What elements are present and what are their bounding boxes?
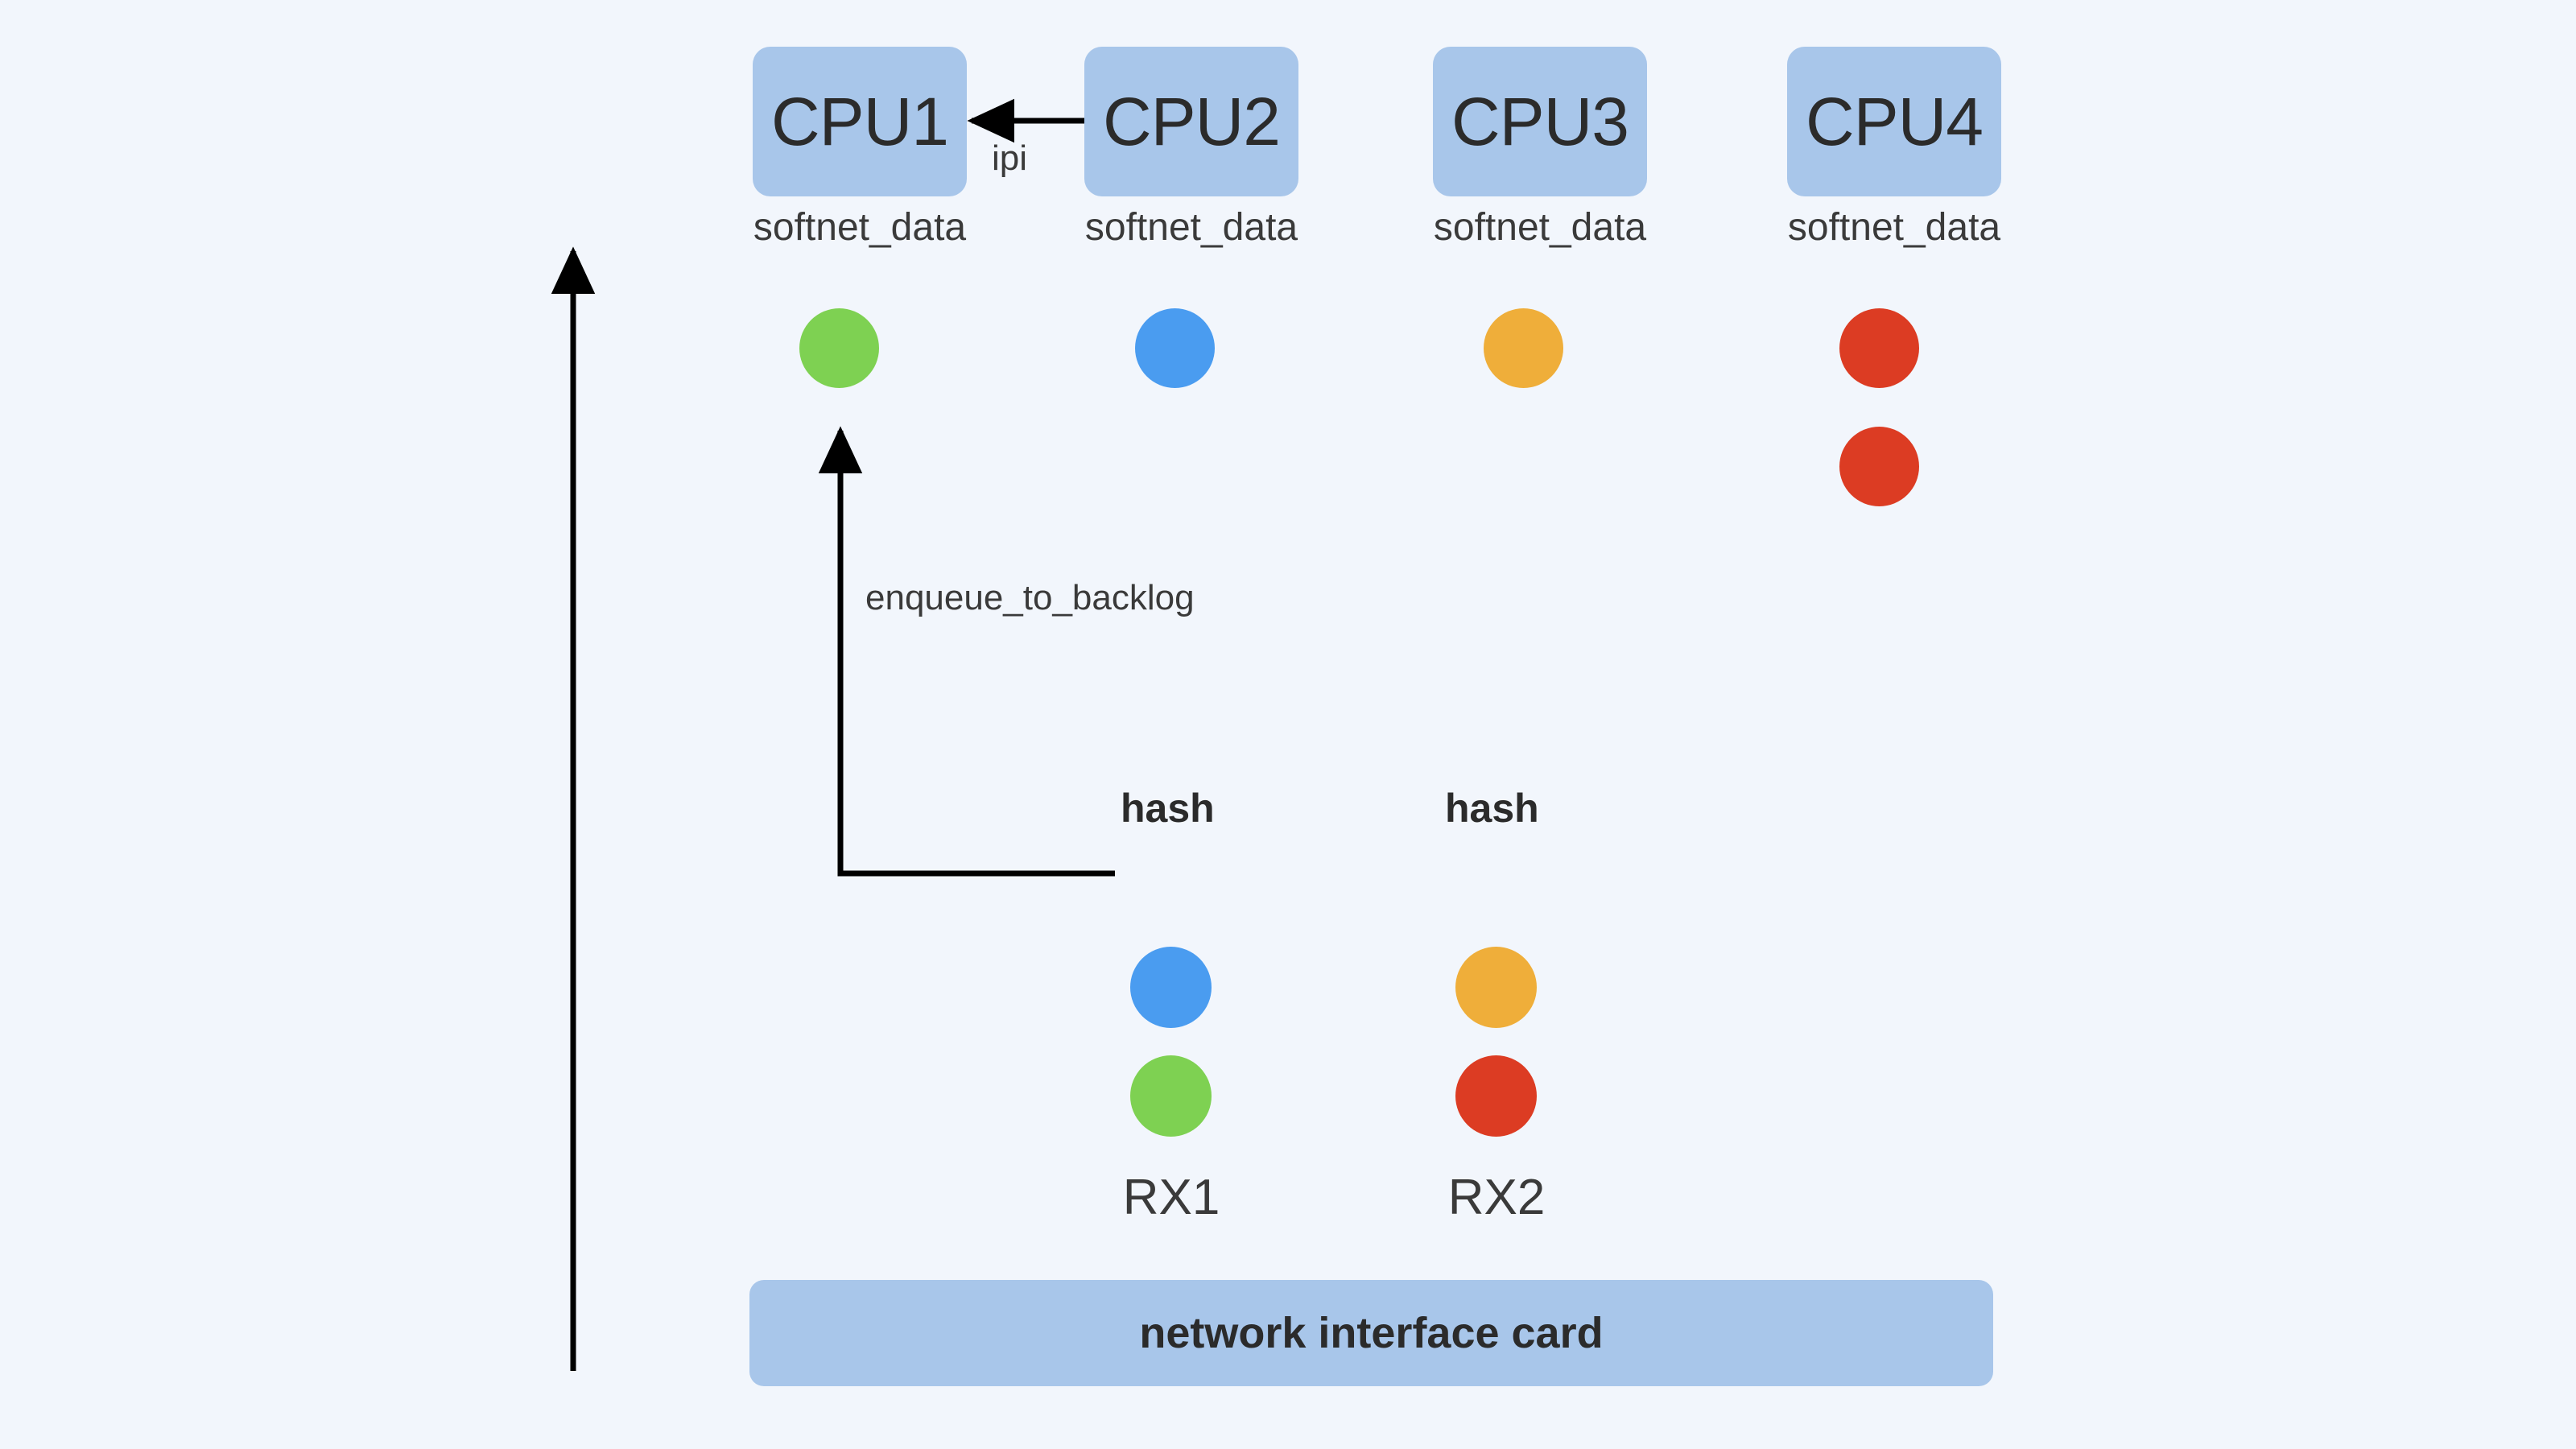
cpu-box-label: CPU1 [771, 83, 948, 161]
hash-label-rx1: hash [1121, 785, 1215, 832]
network-interface-card-label: network interface card [1139, 1308, 1603, 1358]
cpu-box-label: CPU2 [1103, 83, 1280, 161]
backlog-packet-cpu1-1 [799, 308, 879, 388]
backlog-packet-cpu2-1 [1135, 308, 1215, 388]
softnet-data-label-cpu2: softnet_data [1071, 205, 1312, 250]
enqueue-to-backlog-arrow [840, 431, 1115, 873]
cpu-box-label: CPU4 [1806, 83, 1983, 161]
network-interface-card-bar[interactable]: network interface card [749, 1280, 1993, 1386]
rx-packet-rx1-1 [1130, 947, 1212, 1028]
backlog-packet-cpu3-1 [1484, 308, 1563, 388]
backlog-packet-cpu4-1 [1839, 308, 1919, 388]
backlog-packet-cpu4-2 [1839, 427, 1919, 506]
hash-label-rx2: hash [1445, 785, 1539, 832]
softnet-data-label-cpu3: softnet_data [1419, 205, 1661, 250]
rx-queue-label-rx1: RX1 [1051, 1169, 1292, 1226]
cpu-box-cpu3[interactable]: CPU3 [1433, 47, 1647, 196]
cpu-box-cpu1[interactable]: CPU1 [753, 47, 967, 196]
rx-queue-label-rx2: RX2 [1376, 1169, 1617, 1226]
edge-label-ipi: ipi [992, 138, 1027, 179]
edge-label-enqueue-to-backlog: enqueue_to_backlog [865, 578, 1195, 618]
cpu-box-label: CPU3 [1451, 83, 1629, 161]
cpu-box-cpu2[interactable]: CPU2 [1084, 47, 1298, 196]
cpu-box-cpu4[interactable]: CPU4 [1787, 47, 2001, 196]
rx-packet-rx2-1 [1455, 947, 1537, 1028]
rx-packet-rx1-2 [1130, 1055, 1212, 1137]
diagram-canvas: CPU1 CPU2 CPU3 CPU4 softnet_data softnet… [0, 0, 2576, 1449]
softnet-data-label-cpu4: softnet_data [1773, 205, 2015, 250]
softnet-data-label-cpu1: softnet_data [739, 205, 980, 250]
rx-packet-rx2-2 [1455, 1055, 1537, 1137]
